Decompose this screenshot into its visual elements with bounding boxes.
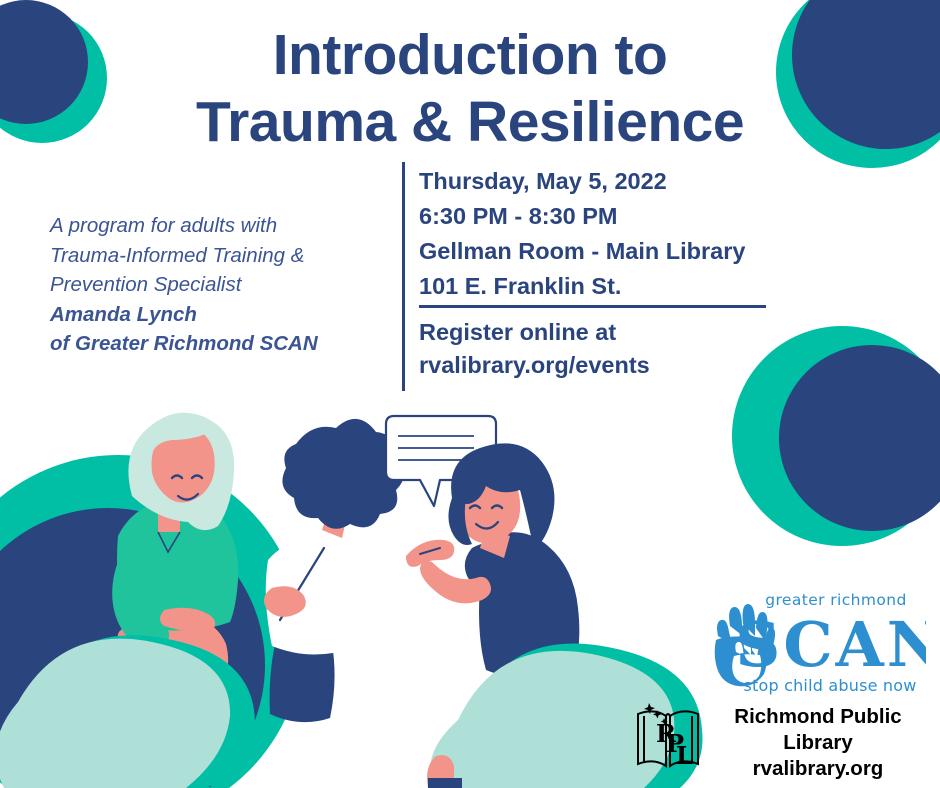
title-line-1: Introduction to	[0, 22, 940, 89]
event-poster: Introduction to Trauma & Resilience A pr…	[0, 0, 940, 788]
scan-bottom-text: stop child abuse now	[743, 676, 916, 695]
details-horizontal-divider	[419, 305, 766, 308]
details-vertical-divider	[402, 162, 405, 391]
description-line-3: Prevention Specialist	[50, 273, 241, 296]
description-line-2: Trauma-Informed Training &	[50, 244, 304, 267]
figure-center-person	[264, 419, 404, 722]
library-url[interactable]: rvalibrary.org	[704, 756, 932, 782]
scan-top-text: greater richmond	[765, 591, 907, 609]
library-monogram-l: L	[676, 741, 693, 770]
event-address: 101 E. Franklin St.	[419, 269, 819, 304]
event-date: Thursday, May 5, 2022	[419, 164, 819, 199]
register-label: Register online at	[419, 316, 819, 349]
title-line-2: Trauma & Resilience	[0, 89, 940, 156]
scan-main-text: SCAN	[736, 608, 926, 681]
description-line-1: A program for adults with	[50, 214, 277, 237]
event-time: 6:30 PM - 8:30 PM	[419, 199, 819, 234]
center-person-shoe	[428, 778, 462, 788]
registration-info: Register online at rvalibrary.org/events	[419, 316, 819, 382]
scan-logo: greater richmond SCAN stop child abuse n…	[706, 588, 926, 698]
presenter-organization: of Greater Richmond SCAN	[50, 332, 318, 355]
event-venue: Gellman Room - Main Library	[419, 234, 819, 269]
page-title: Introduction to Trauma & Resilience	[0, 22, 940, 156]
presenter-name: Amanda Lynch	[50, 303, 197, 326]
library-logo-text: Richmond Public Library rvalibrary.org	[704, 704, 932, 782]
register-url[interactable]: rvalibrary.org/events	[419, 349, 819, 382]
library-name: Richmond Public Library	[704, 704, 932, 756]
program-description: A program for adults with Trauma-Informe…	[50, 211, 380, 359]
event-details: Thursday, May 5, 2022 6:30 PM - 8:30 PM …	[419, 164, 819, 304]
